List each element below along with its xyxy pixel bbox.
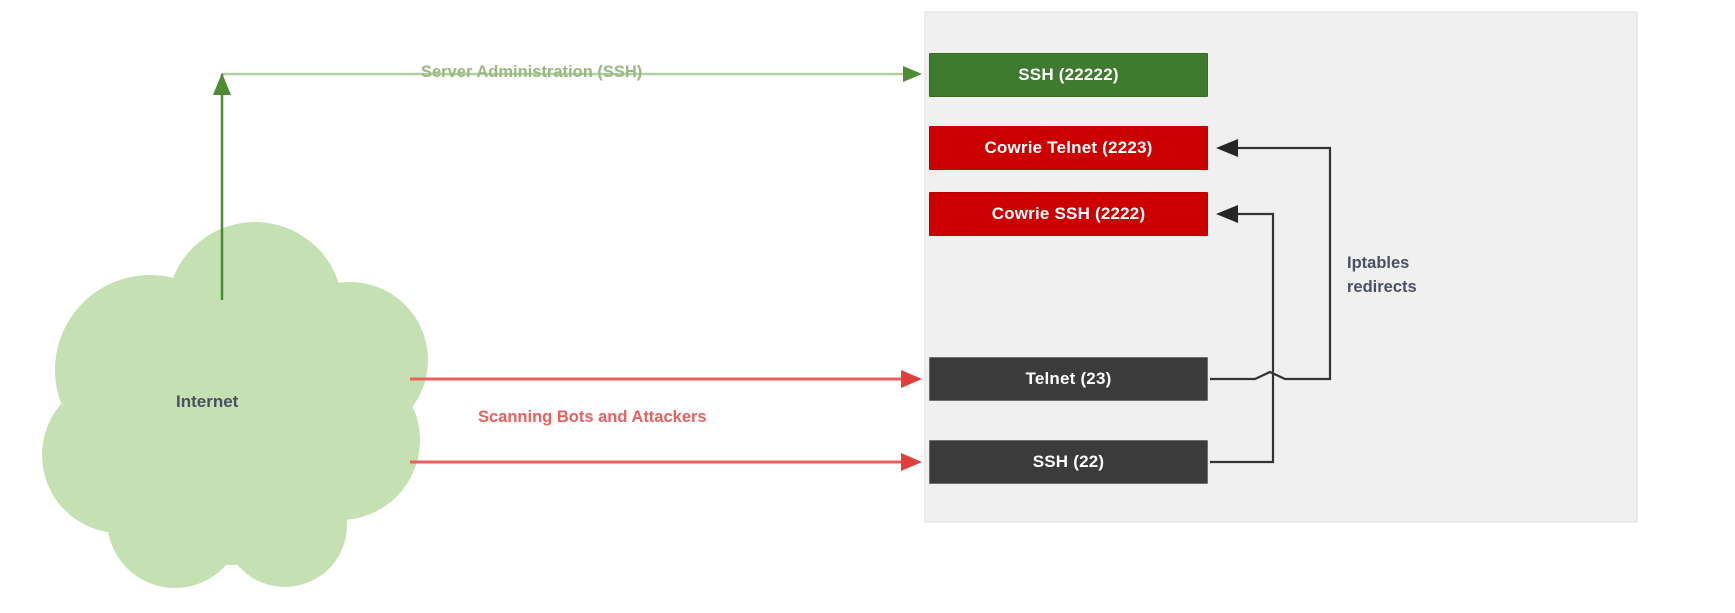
edge-label-iptables-line1: Iptables (1347, 252, 1417, 276)
edge-admin-arrowhead-up (213, 73, 231, 95)
node-cowrie-ssh-label: Cowrie SSH (2222) (992, 204, 1146, 224)
node-cowrie-telnet[interactable]: Cowrie Telnet (2223) (929, 126, 1208, 170)
edge-admin-arrowhead-right (903, 66, 922, 82)
node-telnet-label: Telnet (23) (1026, 369, 1112, 389)
edge-label-server-administration: Server Administration (SSH) (421, 63, 642, 82)
edge-label-iptables-redirects: Iptables redirects (1347, 252, 1417, 300)
internet-cloud-label: Internet (176, 392, 238, 412)
node-cowrie-ssh[interactable]: Cowrie SSH (2222) (929, 192, 1208, 236)
node-cowrie-telnet-label: Cowrie Telnet (2223) (984, 138, 1152, 158)
node-telnet[interactable]: Telnet (23) (929, 357, 1208, 401)
node-ssh-label: SSH (22) (1033, 452, 1105, 472)
node-ssh[interactable]: SSH (22) (929, 440, 1208, 484)
diagram-vector-layer (0, 0, 1735, 613)
edge-scanning-telnet-arrowhead (901, 370, 922, 388)
diagram-canvas: Internet SSH (22222) Cowrie Telnet (2223… (0, 0, 1735, 613)
edge-scanning-ssh-arrowhead (901, 453, 922, 471)
edge-label-scanning-bots: Scanning Bots and Attackers (478, 408, 707, 427)
edge-label-iptables-line2: redirects (1347, 276, 1417, 300)
node-ssh-admin[interactable]: SSH (22222) (929, 53, 1208, 97)
node-ssh-admin-label: SSH (22222) (1018, 65, 1118, 85)
